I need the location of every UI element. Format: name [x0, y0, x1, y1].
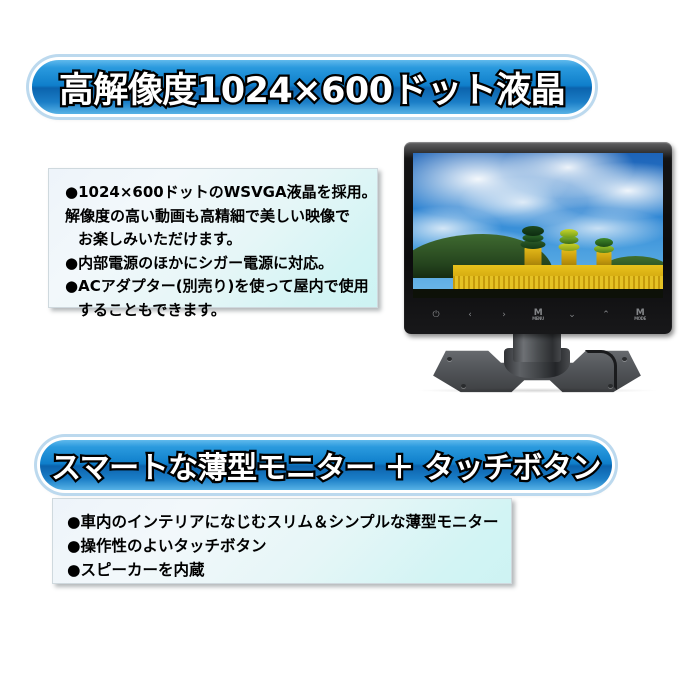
- monitor-screen: [413, 153, 663, 298]
- screen-sculpture: [591, 230, 617, 268]
- feature-line: ●操作性のよいタッチボタン: [67, 534, 497, 558]
- chevron-up-icon[interactable]: ⌃: [598, 311, 614, 320]
- product-drop-shadow: [418, 388, 656, 393]
- feature-line: ●スピーカーを内蔵: [67, 558, 497, 582]
- feature-line: ●ACアダプター(別売り)を使って屋内で使用: [65, 275, 363, 299]
- chevron-left-icon[interactable]: ‹: [462, 311, 478, 320]
- chevron-down-icon[interactable]: ⌄: [564, 311, 580, 320]
- feature-line: することもできます。: [65, 299, 363, 323]
- feature-line: 解像度の高い動画も高精細で美しい映像で: [65, 205, 363, 229]
- stand-screw-hole: [622, 357, 627, 361]
- banner-two-text: スマートな薄型モニター ＋ タッチボタン: [51, 443, 601, 487]
- feature-panel-design: ●車内のインテリアになじむスリム＆シンプルな薄型モニター ●操作性のよいタッチボ…: [52, 498, 512, 584]
- chevron-right-icon[interactable]: ›: [496, 311, 512, 320]
- sculpture-blob: [558, 243, 579, 251]
- sculpture-blob: [595, 238, 613, 247]
- banner-high-resolution: 高解像度1024×600ドット液晶: [32, 60, 592, 114]
- power-icon[interactable]: ⏻: [428, 311, 444, 320]
- touch-button-strip: ⏻ ‹ › M MENU ⌄ ⌃ M MODE: [413, 302, 663, 328]
- banner-one-text: 高解像度1024×600ドット液晶: [59, 62, 565, 113]
- sculpture-blob: [522, 226, 544, 236]
- monitor-bezel: ⏻ ‹ › M MENU ⌄ ⌃ M MODE: [404, 142, 672, 334]
- mode-icon[interactable]: M MODE: [632, 309, 648, 321]
- menu-icon[interactable]: M MENU: [530, 309, 546, 321]
- screen-sculpture: [518, 222, 548, 268]
- banner-slim-monitor: スマートな薄型モニター ＋ タッチボタン: [40, 440, 612, 490]
- sculpture-blob: [560, 229, 578, 238]
- stand-screw-hole: [447, 357, 452, 361]
- feature-line: ●車内のインテリアになじむスリム＆シンプルな薄型モニター: [67, 510, 497, 534]
- feature-line: お楽しみいただけます。: [65, 228, 363, 252]
- feature-panel-display: ●1024×600ドットのWSVGA液晶を採用。 解像度の高い動画も高精細で美し…: [48, 168, 378, 308]
- screen-foreground-shadow: [413, 289, 663, 298]
- power-cable: [585, 350, 617, 390]
- feature-line: ●内部電源のほかにシガー電源に対応。: [65, 252, 363, 276]
- screen-sculpture: [556, 224, 582, 268]
- product-photo-monitor: ⏻ ‹ › M MENU ⌄ ⌃ M MODE: [400, 142, 674, 384]
- feature-line: ●1024×600ドットのWSVGA液晶を採用。: [65, 181, 363, 205]
